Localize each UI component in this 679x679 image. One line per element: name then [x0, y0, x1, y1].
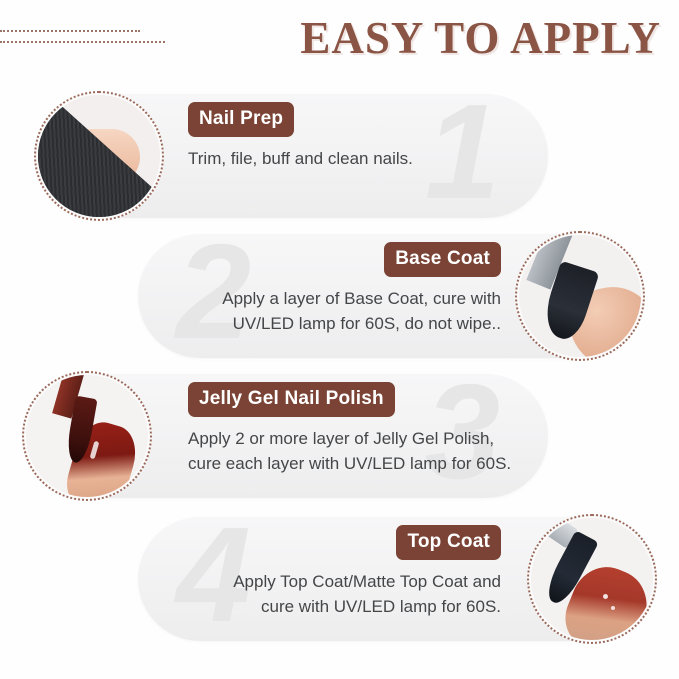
- step-badge-1: Nail Prep: [188, 102, 294, 137]
- step-content-2: Base Coat Apply a layer of Base Coat, cu…: [151, 242, 501, 336]
- top-coat-brush-photo: [527, 514, 657, 644]
- decorative-dotted-lines: [0, 30, 180, 52]
- step-description-3: Apply 2 or more layer of Jelly Gel Polis…: [188, 426, 518, 476]
- step-row-1: 1 Nail Prep Trim, file, buff and clean n…: [0, 86, 679, 226]
- step-row-2: 2 Base Coat Apply a layer of Base Coat, …: [0, 226, 679, 366]
- base-coat-brush-photo: [515, 231, 645, 361]
- easy-to-apply-infographic: { "header": { "title": "EASY TO APPLY", …: [0, 0, 679, 679]
- step-content-4: Top Coat Apply Top Coat/Matte Top Coat a…: [151, 525, 501, 619]
- step-badge-3: Jelly Gel Nail Polish: [188, 382, 395, 417]
- step-badge-4: Top Coat: [396, 525, 501, 560]
- step-row-4: 4 Top Coat Apply Top Coat/Matte Top Coat…: [0, 509, 679, 649]
- steps-list: 1 Nail Prep Trim, file, buff and clean n…: [0, 86, 679, 649]
- step-content-1: Nail Prep Trim, file, buff and clean nai…: [188, 102, 518, 171]
- dotted-rule-top: [0, 30, 140, 32]
- jelly-gel-polish-photo: [22, 371, 152, 501]
- step-description-1: Trim, file, buff and clean nails.: [188, 146, 518, 171]
- page-title: EASY TO APPLY: [300, 12, 661, 64]
- nail-file-photo: [34, 91, 164, 221]
- step-row-3: 3 Jelly Gel Nail Polish Apply 2 or more …: [0, 366, 679, 509]
- step-content-3: Jelly Gel Nail Polish Apply 2 or more la…: [188, 382, 518, 476]
- step-description-4: Apply Top Coat/Matte Top Coat and cure w…: [151, 569, 501, 619]
- header: EASY TO APPLY: [0, 0, 679, 86]
- step-badge-2: Base Coat: [384, 242, 501, 277]
- step-description-2: Apply a layer of Base Coat, cure with UV…: [151, 286, 501, 336]
- dotted-rule-bottom: [0, 41, 165, 43]
